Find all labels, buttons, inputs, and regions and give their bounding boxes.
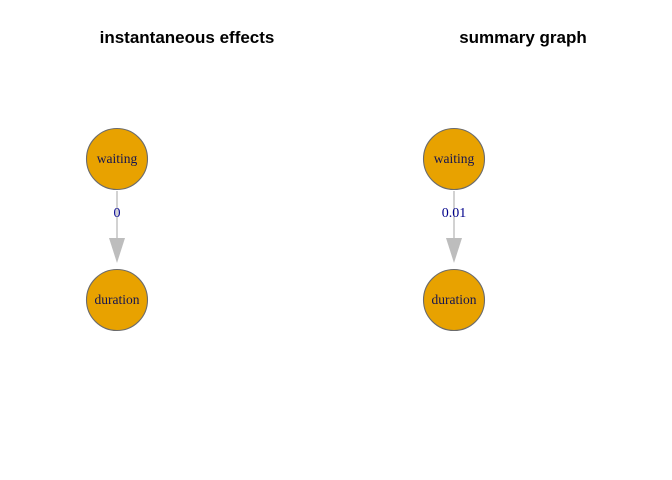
node-label-duration: duration <box>95 292 140 307</box>
edge-label-waiting-duration: 0 <box>114 206 121 221</box>
diagram-canvas: instantaneous effects waiting duration 0… <box>0 0 672 480</box>
node-label-waiting: waiting <box>97 151 138 166</box>
panel-summary-graph: summary graph waiting duration 0.01 <box>336 0 672 480</box>
edge-arrowhead-waiting-duration <box>109 238 125 263</box>
panel-instantaneous-effects: instantaneous effects waiting duration 0 <box>0 0 336 480</box>
graph-instantaneous-effects: waiting duration 0 <box>0 0 336 480</box>
graph-summary-graph: waiting duration 0.01 <box>336 0 672 480</box>
node-label-waiting: waiting <box>434 151 475 166</box>
node-label-duration: duration <box>432 292 477 307</box>
edge-label-waiting-duration: 0.01 <box>442 206 467 221</box>
edge-arrowhead-waiting-duration <box>446 238 462 263</box>
